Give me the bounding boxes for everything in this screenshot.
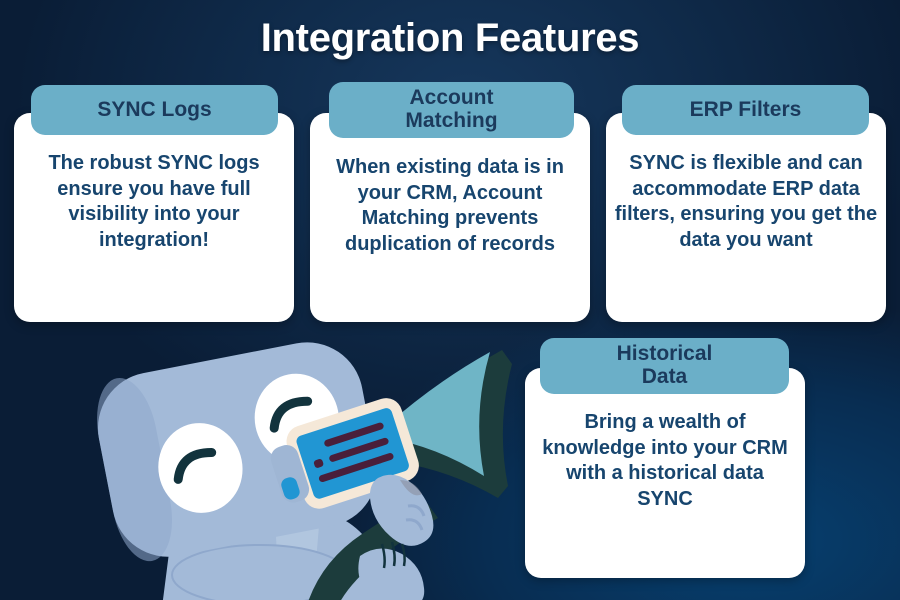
feature-card-text: The robust SYNC logs ensure you have ful… bbox=[30, 151, 278, 253]
feature-card-heading: Historical Data bbox=[540, 338, 789, 394]
feature-card-text: When existing data is in your CRM, Accou… bbox=[320, 155, 580, 257]
page-title: Integration Features bbox=[0, 16, 900, 61]
feature-card-heading: Account Matching bbox=[329, 82, 574, 138]
robot-with-megaphone-illustration bbox=[60, 330, 580, 600]
feature-card-body: When existing data is in your CRM, Accou… bbox=[310, 113, 590, 322]
feature-card-heading: ERP Filters bbox=[622, 85, 869, 135]
feature-card-body: The robust SYNC logs ensure you have ful… bbox=[14, 113, 294, 322]
feature-card-heading: SYNC Logs bbox=[31, 85, 278, 135]
feature-card-text: Bring a wealth of knowledge into your CR… bbox=[537, 410, 793, 512]
feature-card-body: Bring a wealth of knowledge into your CR… bbox=[525, 368, 805, 578]
poster-canvas: Integration Features The robust SYNC log… bbox=[0, 0, 900, 600]
feature-card-body: SYNC is flexible and can accommodate ERP… bbox=[606, 113, 886, 322]
feature-card-text: SYNC is flexible and can accommodate ERP… bbox=[612, 151, 880, 253]
